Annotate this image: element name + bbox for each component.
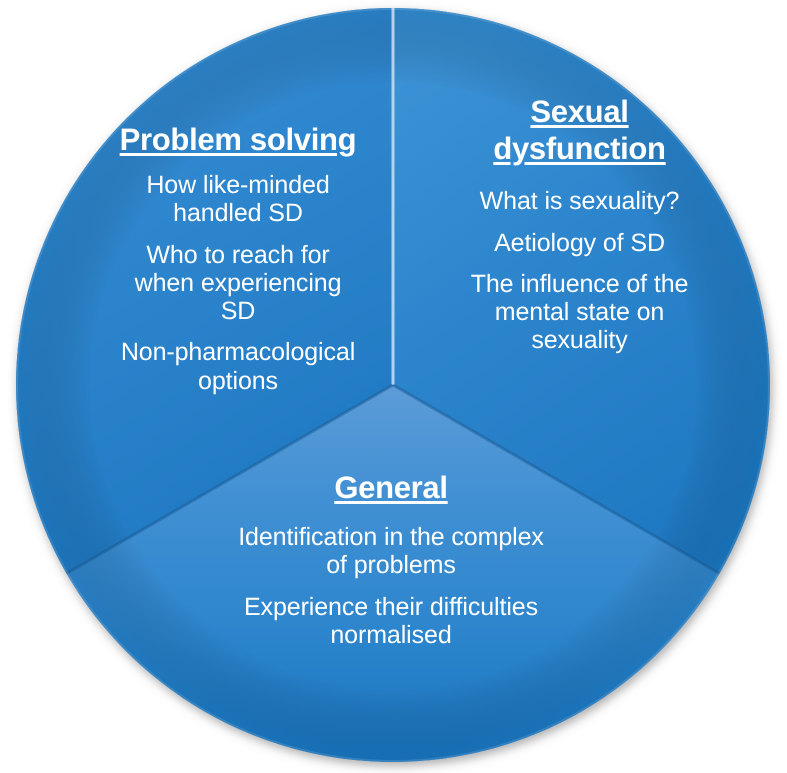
slice-item: Aetiology of SD [437,229,722,257]
slice-item: Non-pharmacological options [88,338,388,395]
slice-item: What is sexuality? [437,187,722,215]
pie-diagram-canvas: Problem solving How like-minded handled … [0,0,787,773]
slice-item: Identification in the complex of problem… [186,523,596,580]
slice-label-problem-solving: Problem solving How like-minded handled … [88,122,388,395]
slice-label-general: General Identification in the complex of… [186,470,596,649]
slice-item: How like-minded handled SD [88,171,388,228]
slice-item: Who to reach for when experiencing SD [88,241,388,326]
slice-title-problem-solving: Problem solving [88,122,388,157]
slice-title-sexual-dysfunction: Sexual dysfunction [437,93,722,167]
slice-label-sexual-dysfunction: Sexual dysfunction What is sexuality? Ae… [437,93,722,355]
slice-item: The influence of the mental state on sex… [437,270,722,355]
slice-title-general: General [186,470,596,505]
slice-item: Experience their difficulties normalised [186,593,596,650]
